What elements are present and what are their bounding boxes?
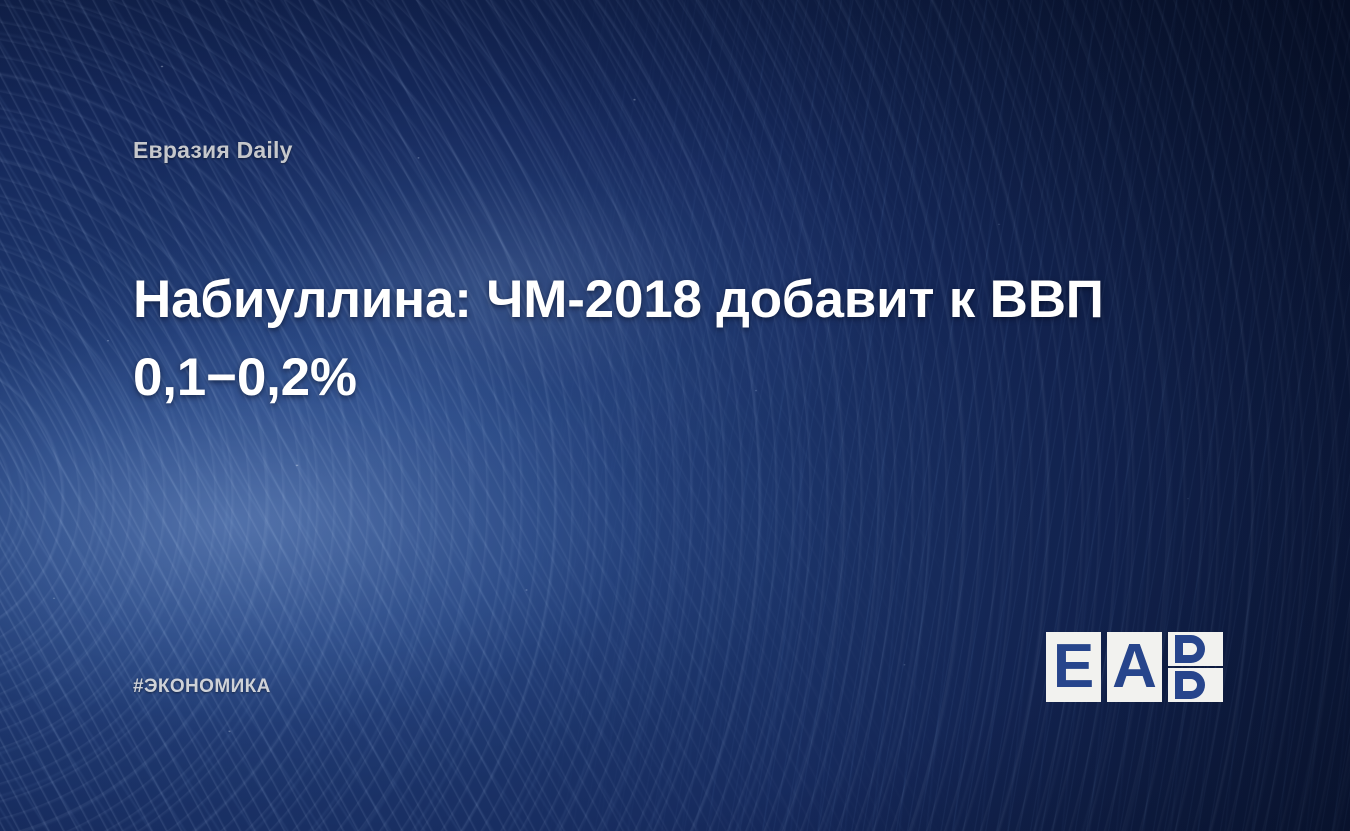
d-glyph-upper-icon: [1175, 635, 1207, 663]
logo-tile-e: E: [1046, 632, 1101, 702]
page-title: Набиуллина: ЧМ-2018 добавит к ВВП 0,1−0,…: [133, 261, 1193, 417]
news-share-card: Евразия Daily Набиуллина: ЧМ-2018 добави…: [0, 0, 1350, 831]
category-tag: #ЭКОНОМИКА: [133, 676, 271, 698]
logo-tile-d-stack: [1168, 632, 1223, 702]
logo-tile-d-lower: [1168, 668, 1223, 702]
logo-tile-d-upper: [1168, 632, 1223, 666]
d-glyph-lower-icon: [1175, 671, 1207, 699]
eadaily-logo: E A: [1046, 632, 1223, 702]
card-content: Евразия Daily Набиуллина: ЧМ-2018 добави…: [0, 0, 1350, 831]
logo-tile-a: A: [1107, 632, 1162, 702]
brand-name: Евразия Daily: [133, 137, 293, 164]
